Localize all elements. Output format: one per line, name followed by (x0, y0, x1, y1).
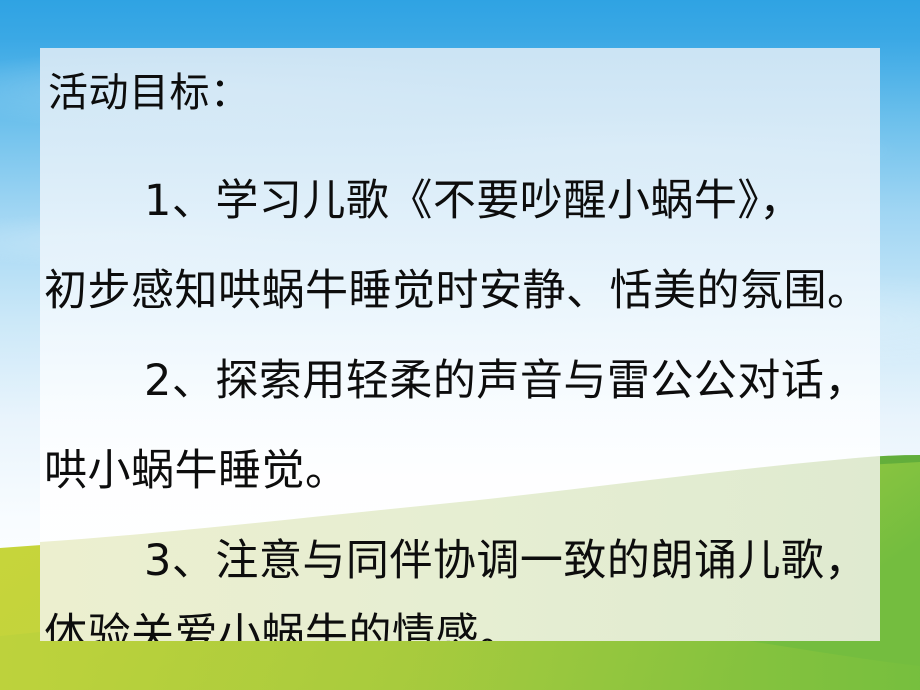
objective-2-line-1: 2、探索用轻柔的声音与雷公公对话， (144, 356, 868, 406)
page-title: 活动目标： (48, 70, 251, 116)
objective-2-line-2: 哄小蜗牛睡觉。 (44, 446, 349, 496)
content-panel: 活动目标： 1、学习儿歌《不要吵醒小蜗牛》， 初步感知哄蜗牛睡觉时安静、恬美的氛… (40, 48, 880, 641)
objective-3-line-2: 体验关爱小蜗牛的情感。 (44, 610, 523, 641)
objective-3-line-1: 3、注意与同伴协调一致的朗诵儿歌， (144, 536, 868, 586)
objective-1-line-2: 初步感知哄蜗牛睡觉时安静、恬美的氛围。 (44, 266, 871, 316)
slide-canvas: 活动目标： 1、学习儿歌《不要吵醒小蜗牛》， 初步感知哄蜗牛睡觉时安静、恬美的氛… (0, 0, 920, 690)
objective-1-line-1: 1、学习儿歌《不要吵醒小蜗牛》， (144, 176, 803, 226)
